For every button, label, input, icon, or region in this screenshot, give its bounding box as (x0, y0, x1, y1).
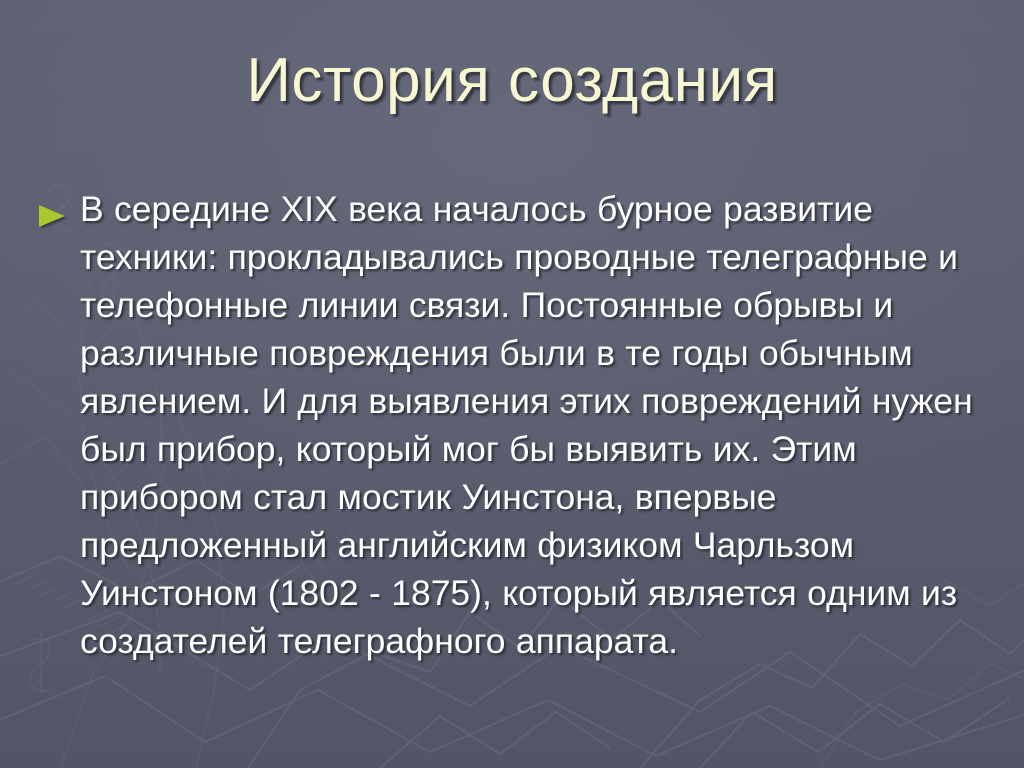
slide-body-block: В середине XIX века началось бурное разв… (36, 185, 984, 665)
triangle-right-bullet-icon (36, 202, 68, 230)
slide-body-text: В середине XIX века началось бурное разв… (80, 185, 984, 665)
slide-title: История создания (0, 48, 1024, 114)
presentation-slide: История создания В середине XIX века нач… (0, 0, 1024, 768)
